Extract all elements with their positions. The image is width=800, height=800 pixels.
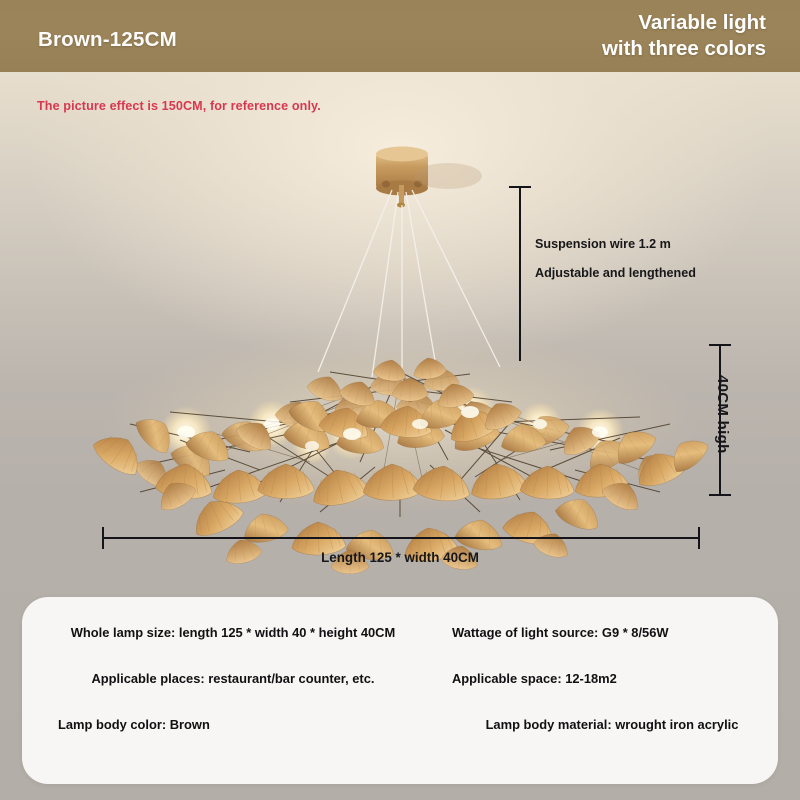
spec-applicable-space: Applicable space: 12-18m2 [452, 669, 772, 688]
width-dimension-cap-right [698, 527, 700, 549]
spec-applicable-places: Applicable places: restaurant/bar counte… [58, 669, 408, 688]
spec-lamp-material: Lamp body material: wrought iron acrylic [452, 715, 772, 734]
suspension-adjustable-label: Adjustable and lengthened [535, 266, 696, 280]
spec-column-left: Whole lamp size: length 125 * width 40 *… [58, 623, 408, 761]
ceiling-canopy [376, 147, 482, 208]
suspension-wire-label: Suspension wire 1.2 m [535, 237, 671, 251]
height-label: 40CM high [714, 375, 731, 454]
width-label: Length 125 * width 40CM [0, 550, 800, 565]
suspension-dimension-line [519, 186, 521, 361]
feature-title-line2: with three colors [466, 36, 766, 62]
width-dimension-line [103, 537, 700, 539]
feature-title: Variable light with three colors [466, 10, 766, 62]
spec-lamp-color: Lamp body color: Brown [58, 715, 408, 734]
product-illustration [0, 72, 800, 592]
feature-title-line1: Variable light [466, 10, 766, 36]
product-variant-title: Brown-125CM [38, 28, 177, 52]
reference-note: The picture effect is 150CM, for referen… [37, 99, 321, 113]
height-dimension-cap-bottom [709, 494, 731, 496]
header-bar: Brown-125CM Variable light with three co… [0, 0, 800, 72]
spec-column-right: Wattage of light source: G9 * 8/56W Appl… [452, 623, 772, 761]
spec-wattage: Wattage of light source: G9 * 8/56W [452, 623, 772, 642]
specification-card: Whole lamp size: length 125 * width 40 *… [22, 597, 778, 784]
spec-lamp-size: Whole lamp size: length 125 * width 40 *… [58, 623, 408, 642]
